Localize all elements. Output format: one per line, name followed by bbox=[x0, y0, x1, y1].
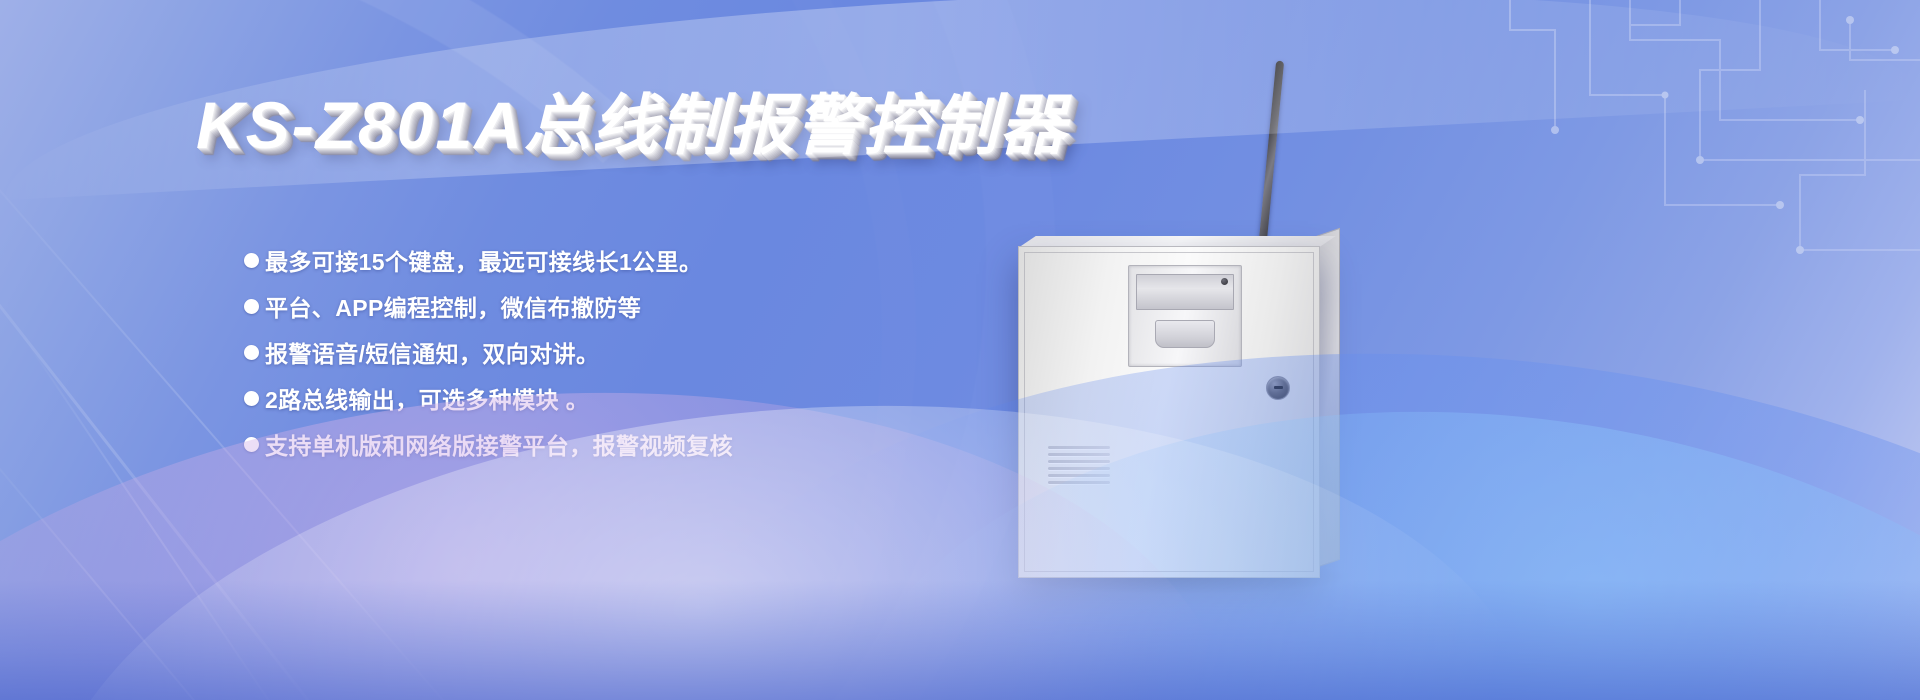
display-window bbox=[1136, 274, 1234, 310]
list-item: 平台、APP编程控制，微信布撤防等 bbox=[244, 284, 1004, 328]
key-lock-icon bbox=[1266, 376, 1290, 400]
vent-slot bbox=[1048, 446, 1110, 449]
bullet-dot-icon bbox=[244, 253, 259, 268]
vent-slot bbox=[1048, 460, 1110, 463]
bottom-gradient-fade bbox=[0, 580, 1920, 700]
bullet-dot-icon bbox=[244, 391, 259, 406]
vent-slot bbox=[1048, 474, 1110, 477]
list-item: 支持单机版和网络版接警平台，报警视频复核 bbox=[244, 422, 1004, 466]
feature-text: 报警语音/短信通知，双向对讲。 bbox=[265, 335, 599, 369]
keypad-display-module bbox=[1128, 265, 1242, 367]
product-banner: KS-Z801A总线制报警控制器 最多可接15个键盘，最远可接线长1公里。 平台… bbox=[0, 0, 1920, 700]
vent-slot bbox=[1048, 481, 1110, 484]
bullet-dot-icon bbox=[244, 299, 259, 314]
list-item: 2路总线输出，可选多种模块 。 bbox=[244, 376, 1004, 420]
status-led-icon bbox=[1221, 278, 1228, 285]
feature-text: 支持单机版和网络版接警平台，报警视频复核 bbox=[265, 427, 733, 461]
bullet-dot-icon bbox=[244, 345, 259, 360]
lock-keyhole bbox=[1274, 386, 1283, 389]
feature-text: 2路总线输出，可选多种模块 。 bbox=[265, 381, 589, 415]
ventilation-grille bbox=[1048, 446, 1110, 488]
bullet-dot-icon bbox=[244, 437, 259, 452]
vent-slot bbox=[1048, 453, 1110, 456]
vent-slot bbox=[1048, 467, 1110, 470]
module-handle bbox=[1155, 320, 1215, 348]
feature-list: 最多可接15个键盘，最远可接线长1公里。 平台、APP编程控制，微信布撤防等 报… bbox=[244, 238, 1004, 468]
feature-text: 平台、APP编程控制，微信布撤防等 bbox=[265, 289, 641, 323]
list-item: 最多可接15个键盘，最远可接线长1公里。 bbox=[244, 238, 1004, 282]
list-item: 报警语音/短信通知，双向对讲。 bbox=[244, 330, 1004, 374]
feature-text: 最多可接15个键盘，最远可接线长1公里。 bbox=[265, 243, 702, 277]
product-image-alarm-control-panel bbox=[1010, 60, 1530, 620]
